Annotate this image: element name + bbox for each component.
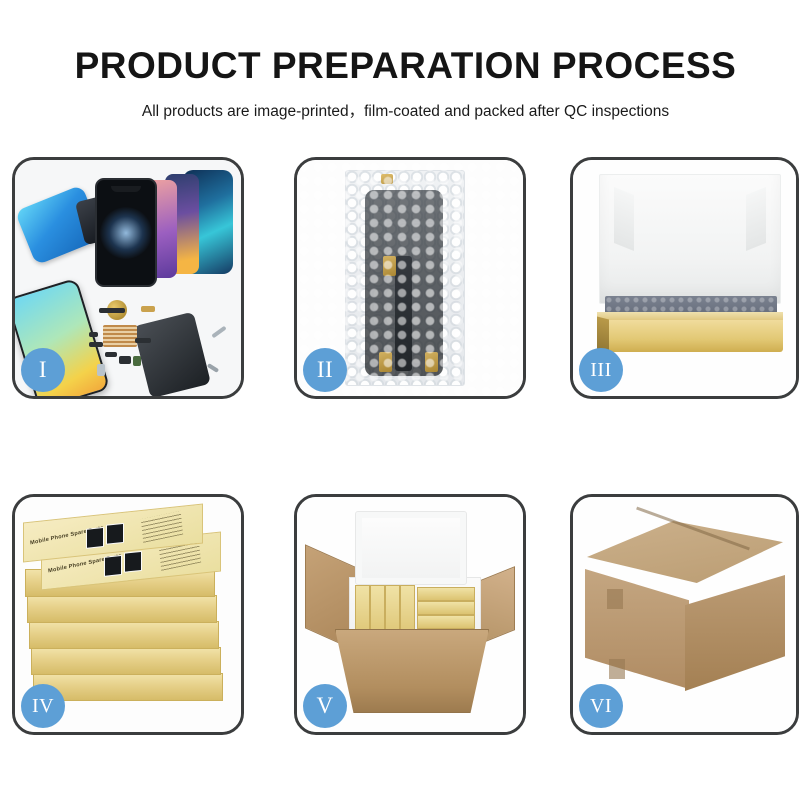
step-badge-4: IV [21, 684, 65, 728]
box-thumbnail [106, 523, 124, 545]
process-step-panel-3[interactable]: III [570, 157, 799, 399]
spare-part [105, 352, 117, 357]
spare-part [141, 306, 155, 312]
gold-box-inside [417, 601, 475, 615]
gold-box-inside [417, 587, 475, 601]
gold-connector [383, 256, 396, 276]
carton-tape-mark [609, 659, 625, 679]
box-thumbnail [86, 527, 104, 549]
gold-connector [425, 352, 438, 372]
lid-flap-right [746, 187, 766, 251]
spare-part [89, 342, 103, 347]
box-thumbnail [124, 551, 142, 573]
spare-part [97, 364, 105, 376]
phone-screen-black [95, 178, 157, 287]
white-foam-lid [599, 174, 781, 304]
box-thumbnail [104, 555, 122, 577]
foam-box-lid [355, 511, 467, 585]
step-badge-6: VI [579, 684, 623, 728]
cardboard-carton-body [335, 629, 489, 713]
process-step-panel-5[interactable]: V [294, 494, 526, 735]
spare-part [119, 356, 131, 364]
page-title: PRODUCT PREPARATION PROCESS [0, 0, 811, 87]
process-step-panel-4[interactable]: Mobile Phone Spare Parts Mobile Phone Sp… [12, 494, 244, 735]
gold-box-stack-item [31, 647, 221, 675]
carton-tape-mark [607, 589, 623, 609]
step-badge-3: III [579, 348, 623, 392]
gold-box-stack-item [27, 595, 217, 623]
spare-part [135, 338, 151, 343]
chip-grid-part [103, 325, 137, 347]
header: PRODUCT PREPARATION PROCESS All products… [0, 0, 811, 121]
spare-part [133, 356, 141, 366]
process-step-panel-6[interactable]: VI [570, 494, 799, 735]
step-badge-1: I [21, 348, 65, 392]
step-badge-2: II [303, 348, 347, 392]
process-step-grid: I II [12, 157, 799, 735]
product-preparation-process-page: PRODUCT PREPARATION PROCESS All products… [0, 0, 811, 811]
gold-box-stack-item [29, 621, 219, 649]
gold-connector [379, 352, 392, 372]
process-step-panel-1[interactable]: I [12, 157, 244, 399]
gold-connector [381, 174, 393, 184]
spare-part [99, 308, 125, 313]
spare-part [89, 332, 98, 337]
gold-box-front [597, 320, 783, 352]
lid-flap-left [614, 187, 634, 251]
gold-box-inside [417, 615, 475, 629]
flex-cable [395, 256, 412, 371]
page-subtitle: All products are image-printed，film-coat… [0, 87, 811, 121]
box-spec-lines [141, 511, 183, 543]
process-step-panel-2[interactable]: II [294, 157, 526, 399]
step-badge-5: V [303, 684, 347, 728]
